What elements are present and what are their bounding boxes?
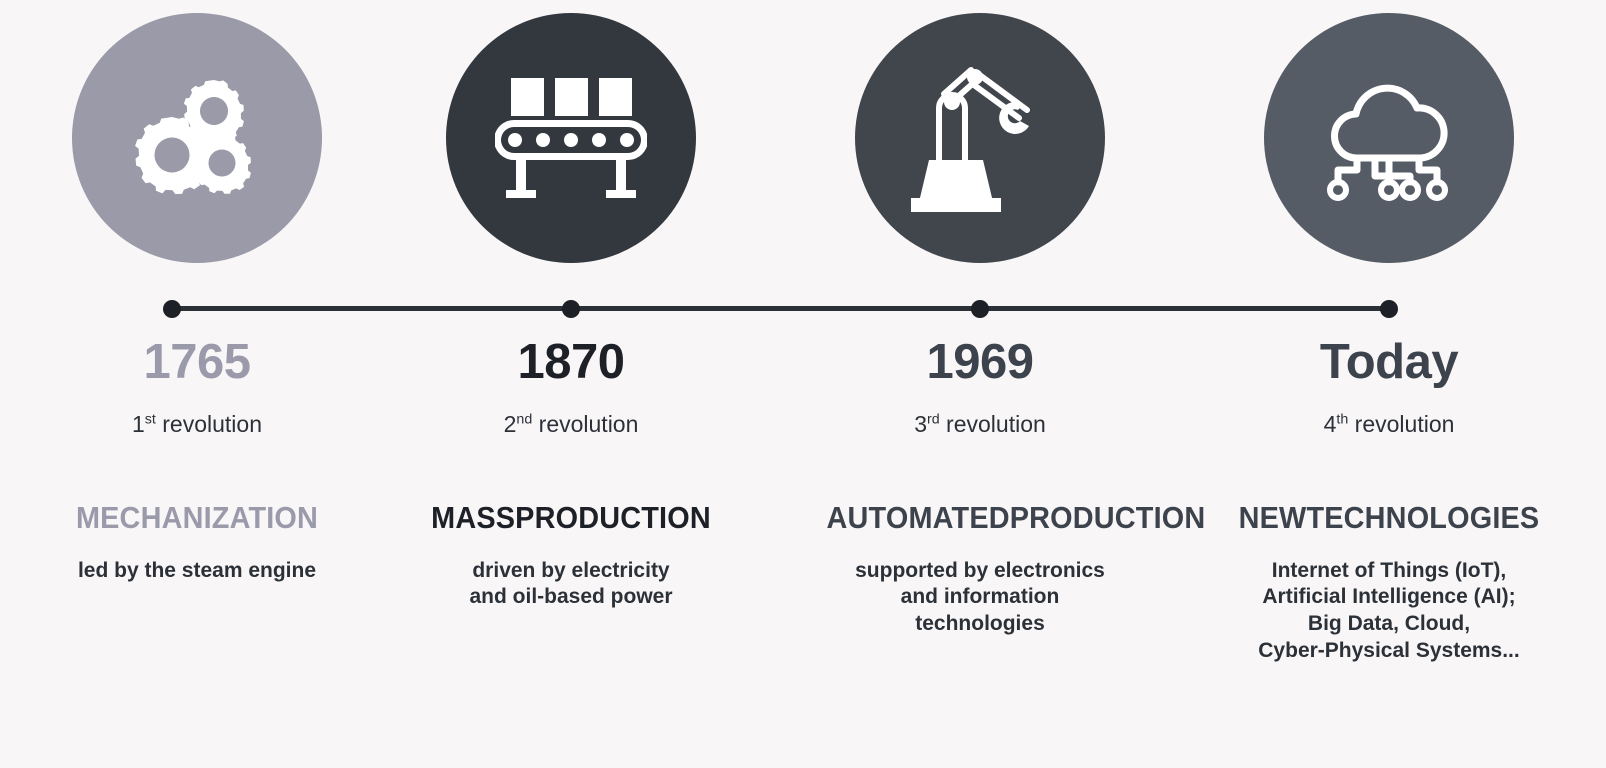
- year-label-fourth: Today: [1224, 338, 1554, 387]
- year-label-first: 1765: [32, 338, 362, 387]
- headline-line: PRODUCTION: [515, 500, 711, 535]
- column-second-revolution: 1870 2nd revolution MASSPRODUCTION drive…: [406, 330, 736, 611]
- description-line: Cyber-Physical Systems...: [1224, 638, 1554, 665]
- description-third: supported by electronicsand informationt…: [815, 558, 1145, 638]
- headline-line: AUTOMATED: [827, 500, 1010, 535]
- description-line: Internet of Things (IoT),: [1224, 558, 1554, 585]
- ordinal-suffix: st: [145, 411, 156, 427]
- icon-circle-wrap-first: [72, 13, 322, 263]
- timeline-dot-fourth[interactable]: [1380, 300, 1398, 318]
- conveyor-belt-icon: [495, 76, 647, 200]
- headline-line: MECHANIZATION: [76, 500, 318, 535]
- headline-second: MASSPRODUCTION: [418, 501, 725, 536]
- column-first-revolution: 1765 1st revolution MECHANIZATION led by…: [32, 330, 362, 584]
- icon-circle-first[interactable]: [72, 13, 322, 263]
- icon-circle-wrap-third: [855, 13, 1105, 263]
- headline-fourth: NEWTECHNOLOGIES: [1236, 501, 1543, 536]
- column-fourth-revolution: Today 4th revolution NEWTECHNOLOGIES Int…: [1224, 330, 1554, 664]
- ordinal-suffix: th: [1336, 411, 1348, 427]
- headline-line: TECHNOLOGIES: [1306, 500, 1539, 535]
- column-third-revolution: 1969 3rd revolution AUTOMATEDPRODUCTION …: [815, 330, 1145, 638]
- revolution-label-fourth: 4th revolution: [1224, 411, 1554, 438]
- icon-circle-second[interactable]: [446, 13, 696, 263]
- description-line: led by the steam engine: [32, 558, 362, 585]
- headline-first: MECHANIZATION: [44, 501, 351, 536]
- ordinal-suffix: nd: [516, 411, 532, 427]
- description-line: Big Data, Cloud,: [1224, 611, 1554, 638]
- description-line: supported by electronics: [815, 558, 1145, 585]
- description-line: driven by electricity: [406, 558, 736, 585]
- description-line: and oil-based power: [406, 584, 736, 611]
- headline-line: PRODUCTION: [1010, 500, 1206, 535]
- icon-circle-fourth[interactable]: [1264, 13, 1514, 263]
- icon-circle-wrap-second: [446, 13, 696, 263]
- infographic-canvas: 1765 1st revolution MECHANIZATION led by…: [0, 0, 1606, 768]
- gears-icon: [122, 63, 272, 213]
- timeline-dot-third[interactable]: [971, 300, 989, 318]
- revolution-label-first: 1st revolution: [32, 411, 362, 438]
- cloud-network-icon: [1315, 70, 1463, 206]
- timeline-dot-second[interactable]: [562, 300, 580, 318]
- icon-circle-wrap-fourth: [1264, 13, 1514, 263]
- description-first: led by the steam engine: [32, 558, 362, 585]
- year-label-third: 1969: [815, 338, 1145, 387]
- description-line: technologies: [815, 611, 1145, 638]
- description-fourth: Internet of Things (IoT),Artificial Inte…: [1224, 558, 1554, 665]
- headline-third: AUTOMATEDPRODUCTION: [827, 501, 1134, 536]
- revolution-label-third: 3rd revolution: [815, 411, 1145, 438]
- year-label-second: 1870: [406, 338, 736, 387]
- icon-circle-row: [0, 0, 1606, 285]
- headline-line: NEW: [1239, 500, 1307, 535]
- revolution-label-second: 2nd revolution: [406, 411, 736, 438]
- ordinal-suffix: rd: [927, 411, 940, 427]
- timeline-dot-first[interactable]: [163, 300, 181, 318]
- description-line: and information: [815, 584, 1145, 611]
- timeline: [0, 300, 1606, 320]
- icon-circle-third[interactable]: [855, 13, 1105, 263]
- description-second: driven by electricityand oil-based power: [406, 558, 736, 611]
- headline-line: MASS: [431, 500, 515, 535]
- timeline-line: [172, 306, 1390, 311]
- robot-arm-icon: [911, 64, 1049, 212]
- description-line: Artificial Intelligence (AI);: [1224, 584, 1554, 611]
